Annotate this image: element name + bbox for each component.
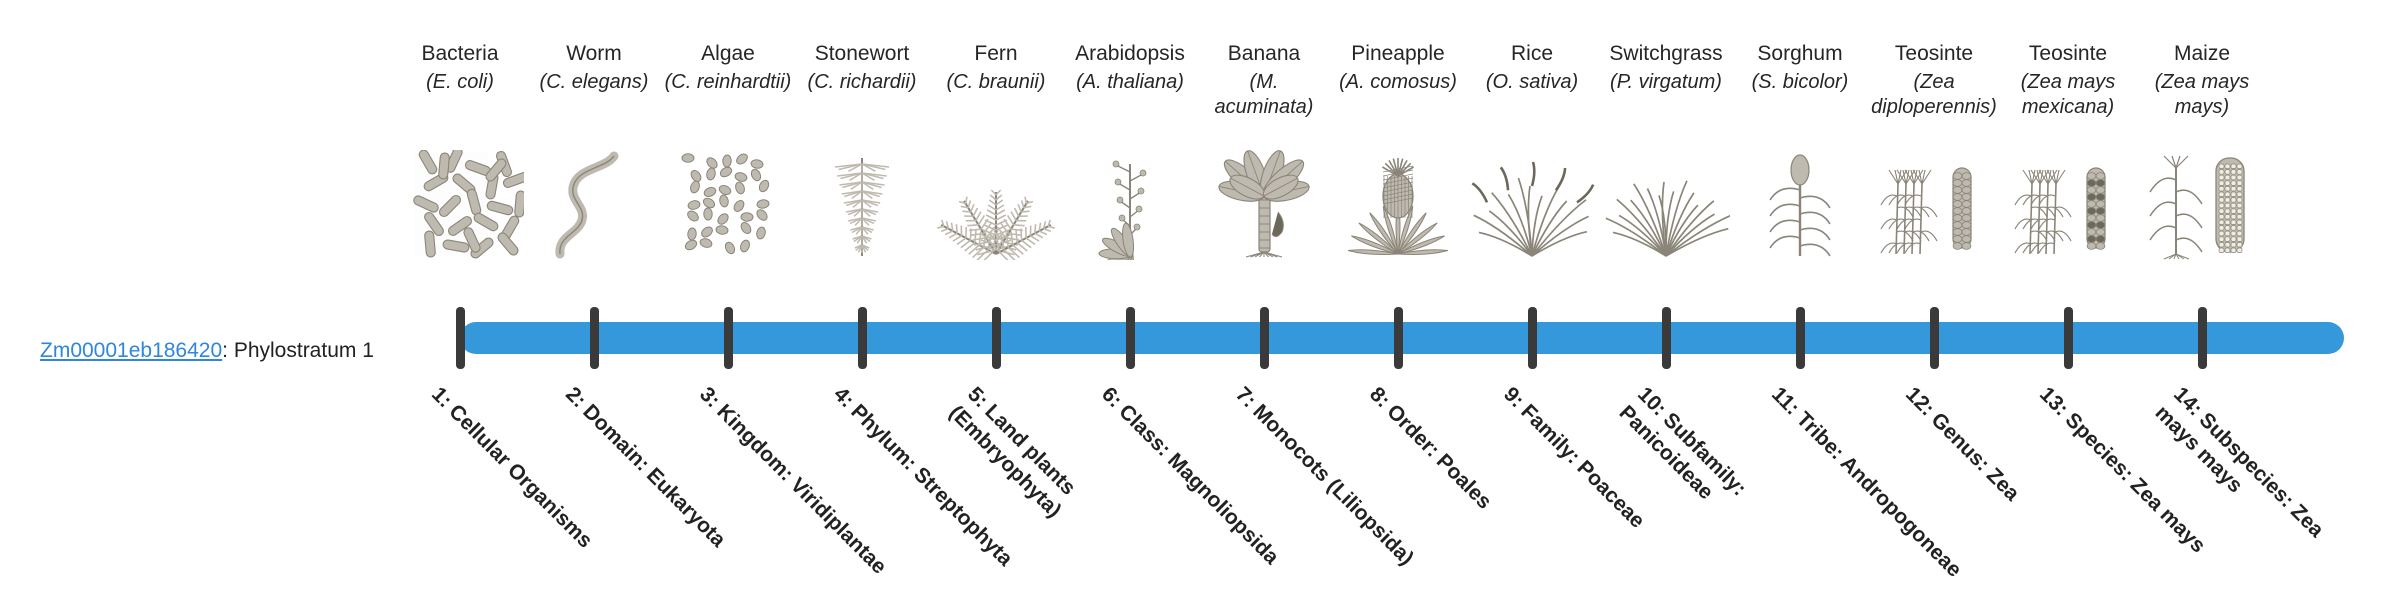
- teosinte-mexicana-icon: [2004, 150, 2132, 260]
- taxon-common-name: Stonewort: [798, 42, 926, 66]
- phylostratum-value: Phylostratum 1: [234, 339, 374, 362]
- taxon-common-name: Fern: [932, 42, 1060, 66]
- rank-taxon: Eukaryota: [642, 464, 730, 552]
- rank-index: 13:: [2035, 383, 2073, 421]
- rank-taxon: Poales: [1432, 450, 1496, 514]
- teosinte-mexicana-icon-svg: [2004, 150, 2132, 260]
- rank-name: Tribe:: [1792, 407, 1849, 464]
- switchgrass-icon-svg: [1602, 150, 1730, 260]
- taxon-common-name: Maize: [2138, 42, 2266, 66]
- tick-mark-5: [992, 307, 1001, 369]
- rank-taxon: (Liliopsida): [1323, 474, 1418, 569]
- taxon-common-name: Switchgrass: [1602, 42, 1730, 66]
- taxon-scientific-name: (A. comosus): [1334, 70, 1462, 95]
- teosinte-diplo-icon: [1870, 150, 1998, 260]
- tick-mark-2: [590, 307, 599, 369]
- rank-taxon: Viridiplantae: [786, 473, 891, 578]
- tick-mark-1: [456, 307, 465, 369]
- taxon-scientific-name: (Zea mays mexicana): [2004, 70, 2132, 120]
- rank-index: 11:: [1767, 383, 1804, 420]
- stonewort-alga-icon-svg: [798, 150, 926, 260]
- taxon-scientific-name: (P. virgatum): [1602, 70, 1730, 95]
- algae-cells-icon-svg: [664, 150, 792, 260]
- taxon-scientific-name: (O. sativa): [1468, 70, 1596, 95]
- taxon-scientific-name: (Zea diploperennis): [1870, 70, 1998, 120]
- gene-id-link[interactable]: Zm00001eb186420: [40, 339, 222, 362]
- taxon-common-name: Algae: [664, 42, 792, 66]
- taxon-scientific-name: (Zea mays mays): [2138, 70, 2266, 120]
- taxon-scientific-name: (C. elegans): [530, 70, 658, 95]
- label-separator: :: [222, 339, 234, 362]
- tick-mark-7: [1260, 307, 1269, 369]
- tick-mark-3: [724, 307, 733, 369]
- tick-mark-9: [1528, 307, 1537, 369]
- sorghum-plant-icon: [1736, 150, 1864, 260]
- taxon-scientific-name: (C. braunii): [932, 70, 1060, 95]
- bacteria-rods-icon: [396, 150, 524, 260]
- rank-name: Class:: [1114, 400, 1175, 461]
- rice-grass-icon: [1468, 150, 1596, 260]
- banana-palm-icon-svg: [1200, 150, 1328, 260]
- taxon-scientific-name: (S. bicolor): [1736, 70, 1864, 95]
- bacteria-rods-icon-svg: [396, 150, 524, 260]
- tick-mark-13: [2064, 307, 2073, 369]
- nematode-worm-icon: [530, 150, 658, 260]
- rank-label-14: 14: Subspecies: Zea mays mays: [2149, 382, 2370, 603]
- rank-name: Kingdom:: [712, 400, 798, 486]
- tick-mark-4: [858, 307, 867, 369]
- rank-name: Family:: [1516, 400, 1584, 468]
- pineapple-plant-icon-svg: [1334, 150, 1462, 260]
- rank-taxon: Streptophyta: [909, 463, 1017, 571]
- rice-grass-icon-svg: [1468, 150, 1596, 260]
- arabidopsis-plant-icon-svg: [1066, 150, 1194, 260]
- fern-frond-icon: [932, 150, 1060, 260]
- tick-mark-10: [1662, 307, 1671, 369]
- rank-index: 12:: [1901, 383, 1939, 421]
- phylostratigraphy-figure: Zm00001eb186420: Phylostratum 1 Bacteria…: [0, 0, 2400, 580]
- taxon-scientific-name: (E. coli): [396, 70, 524, 95]
- taxon-scientific-name: (C. reinhardtii): [664, 70, 792, 95]
- fern-frond-icon-svg: [932, 150, 1060, 260]
- tick-mark-11: [1796, 307, 1805, 369]
- tick-mark-8: [1394, 307, 1403, 369]
- taxon-common-name: Pineapple: [1334, 42, 1462, 66]
- rank-name: Monocots: [1248, 400, 1334, 486]
- rank-name: Phylum:: [846, 400, 921, 475]
- rank-name: Domain:: [578, 400, 654, 476]
- sorghum-plant-icon-svg: [1736, 150, 1864, 260]
- rank-name: Cellular: [444, 400, 515, 471]
- rank-taxon: Andropogoneae: [1836, 452, 1966, 582]
- rank-taxon: Zea: [1982, 464, 2024, 506]
- tick-mark-14: [2198, 307, 2207, 369]
- taxon-scientific-name: (M. acuminata): [1200, 70, 1328, 120]
- maize-ear-icon-svg: [2138, 150, 2266, 260]
- nematode-worm-icon-svg: [530, 150, 658, 260]
- taxon-common-name: Teosinte: [2004, 42, 2132, 66]
- taxon-common-name: Sorghum: [1736, 42, 1864, 66]
- arabidopsis-plant-icon: [1066, 150, 1194, 260]
- rank-taxon: Magnoliopsida: [1163, 449, 1283, 569]
- rank-name: Order:: [1382, 400, 1444, 462]
- taxon-common-name: Bacteria: [396, 42, 524, 66]
- tick-mark-6: [1126, 307, 1135, 369]
- maize-ear-icon: [2138, 150, 2266, 260]
- gene-phylostratum-label: Zm00001eb186420: Phylostratum 1: [40, 338, 420, 364]
- pineapple-plant-icon: [1334, 150, 1462, 260]
- banana-palm-icon: [1200, 150, 1328, 260]
- rank-taxon: Poaceae: [1573, 456, 1650, 533]
- rank-taxon: Organisms: [503, 459, 597, 553]
- tick-mark-12: [1930, 307, 1939, 369]
- taxon-common-name: Arabidopsis: [1066, 42, 1194, 66]
- teosinte-diplo-icon-svg: [1870, 150, 1998, 260]
- rank-taxon: Zea mays: [2126, 474, 2210, 558]
- rank-name: Genus:: [1927, 408, 1994, 475]
- taxon-common-name: Teosinte: [1870, 42, 1998, 66]
- algae-cells-icon: [664, 150, 792, 260]
- taxon-common-name: Banana: [1200, 42, 1328, 66]
- stonewort-alga-icon: [798, 150, 926, 260]
- rank-name: Species:: [2061, 408, 2138, 485]
- taxon-scientific-name: (A. thaliana): [1066, 70, 1194, 95]
- switchgrass-icon: [1602, 150, 1730, 260]
- taxon-common-name: Rice: [1468, 42, 1596, 66]
- taxon-scientific-name: (C. richardii): [798, 70, 926, 95]
- taxon-common-name: Worm: [530, 42, 658, 66]
